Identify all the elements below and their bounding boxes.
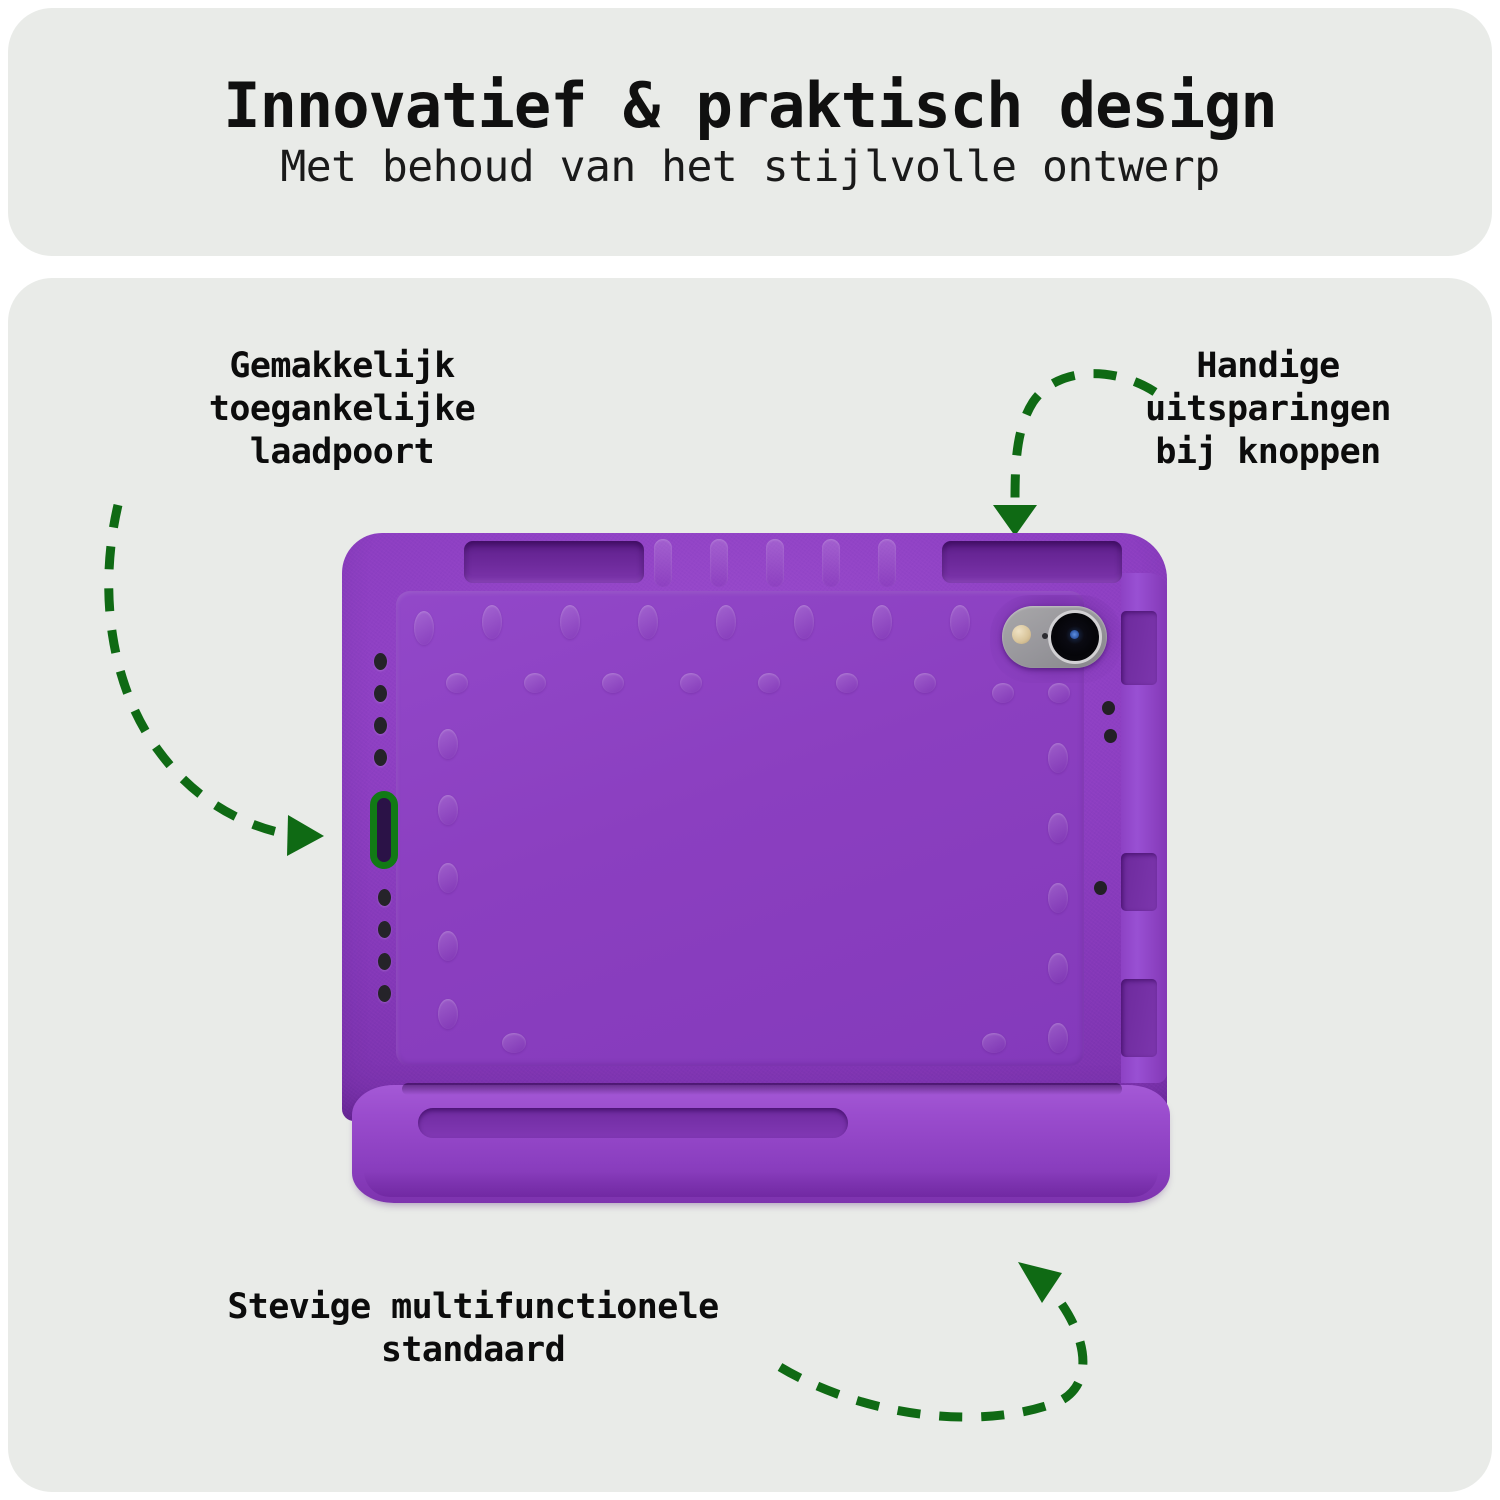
stand-body — [352, 1085, 1170, 1203]
foam-bump — [716, 605, 736, 639]
header-text-block: Innovatief & praktisch design Met behoud… — [8, 8, 1492, 256]
top-ridge — [654, 539, 672, 587]
speaker-dot — [374, 685, 387, 702]
top-ridge — [710, 539, 728, 587]
foam-bump — [950, 605, 970, 639]
foam-bump — [872, 605, 892, 639]
stand-groove — [418, 1108, 848, 1138]
microphone-dot — [1104, 729, 1117, 743]
foam-bump — [482, 605, 502, 639]
callout-label-stand: Stevige multifunctionele standaard — [78, 1286, 868, 1372]
top-ridge — [822, 539, 840, 587]
foam-bump — [1048, 883, 1068, 913]
foam-bump — [836, 673, 858, 693]
foam-bump — [560, 605, 580, 639]
speaker-dot — [378, 985, 391, 1002]
speaker-dot — [378, 889, 391, 906]
speaker-dot — [374, 653, 387, 670]
foam-bump — [414, 611, 434, 645]
microphone-dot — [1102, 701, 1115, 715]
foam-bump — [602, 673, 624, 693]
foam-bump — [758, 673, 780, 693]
foam-bump — [1048, 683, 1070, 703]
multifunctional-stand — [352, 1085, 1170, 1215]
stand-hinge-shadow — [402, 1083, 1122, 1095]
button-cutout-top — [1121, 611, 1157, 685]
microphone-dot — [1094, 881, 1107, 895]
foam-bump — [914, 673, 936, 693]
camera-module — [1002, 606, 1107, 668]
page-subtitle: Met behoud van het stijlvolle ontwerp — [280, 144, 1219, 191]
button-cutout-middle — [1121, 853, 1157, 911]
stand-shadow — [364, 1171, 1158, 1197]
foam-bump — [1048, 743, 1068, 773]
foam-bump — [1048, 953, 1068, 983]
page-title: Innovatief & praktisch design — [223, 73, 1277, 138]
top-ridge — [878, 539, 896, 587]
foam-bump — [1048, 1023, 1068, 1053]
button-cutout-bottom — [1121, 979, 1157, 1057]
foam-bump — [1048, 813, 1068, 843]
top-ridge — [766, 539, 784, 587]
case-back-plate — [396, 591, 1084, 1066]
foam-bump — [438, 931, 458, 961]
foam-bump — [794, 605, 814, 639]
foam-bump — [680, 673, 702, 693]
charging-port-highlight — [370, 791, 398, 869]
callout-label-button-cutouts: Handige uitsparingen bij knoppen — [1068, 345, 1468, 474]
foam-bump — [638, 605, 658, 639]
callout-label-charging-port: Gemakkelijk toegankelijke laadpoort — [92, 345, 592, 474]
case-body — [342, 533, 1167, 1121]
foam-bump — [982, 1033, 1006, 1053]
speaker-dot — [378, 953, 391, 970]
speaker-dot — [378, 921, 391, 938]
foam-bump — [438, 729, 458, 759]
product-image-tablet-case — [342, 533, 1167, 1213]
foam-bump — [446, 673, 468, 693]
handle-slot-left — [464, 541, 644, 583]
camera-lens-icon — [1048, 610, 1102, 664]
handle-slot-right — [942, 541, 1122, 583]
foam-bump — [524, 673, 546, 693]
speaker-dot — [374, 717, 387, 734]
foam-bump — [438, 999, 458, 1029]
foam-bump — [502, 1033, 526, 1053]
foam-bump — [438, 795, 458, 825]
foam-bump — [438, 863, 458, 893]
speaker-dot — [374, 749, 387, 766]
camera-flash-icon — [1012, 625, 1031, 644]
infographic-canvas: Innovatief & praktisch design Met behoud… — [0, 0, 1500, 1500]
foam-bump — [992, 683, 1014, 703]
